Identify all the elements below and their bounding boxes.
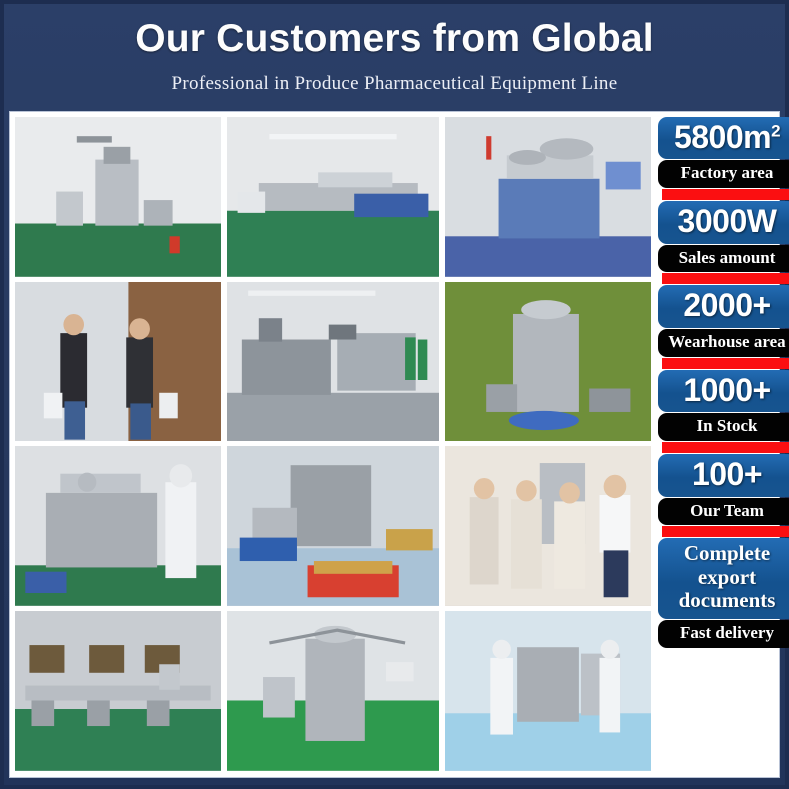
stat-label: Factory area	[658, 160, 789, 188]
stat-divider	[662, 358, 789, 369]
photo-cleanroom-blue-floor[interactable]	[445, 611, 651, 771]
banner-header: Our Customers from Global Professional i…	[4, 4, 785, 105]
stat-block: 5800m2Factory area	[658, 117, 789, 201]
sidebar-footer: Complete export documentsFast delivery	[658, 538, 789, 647]
photo-blister-packing-line[interactable]	[227, 282, 439, 442]
photo-capsule-sorting-bins[interactable]	[227, 446, 439, 606]
stat-block: 2000+Wearhouse area	[658, 285, 789, 369]
stat-divider	[662, 189, 789, 200]
page-title: Our Customers from Global	[4, 18, 785, 61]
fast-delivery-label: Fast delivery	[658, 620, 789, 648]
stat-value: 5800m2	[658, 117, 789, 160]
page-subtitle: Professional in Produce Pharmaceutical E…	[4, 73, 785, 95]
stat-divider	[662, 526, 789, 537]
stat-divider	[662, 273, 789, 284]
stat-value: 3000W	[658, 201, 789, 244]
stat-value: 100+	[658, 454, 789, 497]
photo-packaging-line-room[interactable]	[227, 117, 439, 277]
photo-gallery	[15, 117, 651, 771]
photo-operator-at-coating-machine[interactable]	[15, 446, 221, 606]
photo-conveyor-windows-room[interactable]	[15, 611, 221, 771]
photo-capsule-filling-machine[interactable]	[445, 117, 651, 277]
photo-two-men-with-jerrycans[interactable]	[15, 282, 221, 442]
promo-banner: Our Customers from Global Professional i…	[0, 0, 789, 789]
stat-label: Our Team	[658, 498, 789, 526]
photo-filling-machine-green-floor[interactable]	[227, 611, 439, 771]
stat-block: 100+Our Team	[658, 454, 789, 538]
export-documents-highlight: Complete export documents	[658, 538, 789, 619]
content-panel: 5800m2Factory area3000WSales amount2000+…	[9, 111, 780, 778]
stats-sidebar: 5800m2Factory area3000WSales amount2000+…	[656, 117, 789, 771]
stat-label: Sales amount	[658, 245, 789, 273]
stat-block: 1000+In Stock	[658, 370, 789, 454]
photo-tablet-press-workshop[interactable]	[15, 117, 221, 277]
stat-label: In Stock	[658, 413, 789, 441]
stat-value: 1000+	[658, 370, 789, 413]
stat-label: Wearhouse area	[658, 329, 789, 357]
stat-block: 3000WSales amount	[658, 201, 789, 285]
photo-green-room-filling-machine[interactable]	[445, 282, 651, 442]
stat-value-superscript: 2	[771, 121, 780, 140]
photo-customer-group-four[interactable]	[445, 446, 651, 606]
stat-value: 2000+	[658, 285, 789, 328]
stat-divider	[662, 442, 789, 453]
